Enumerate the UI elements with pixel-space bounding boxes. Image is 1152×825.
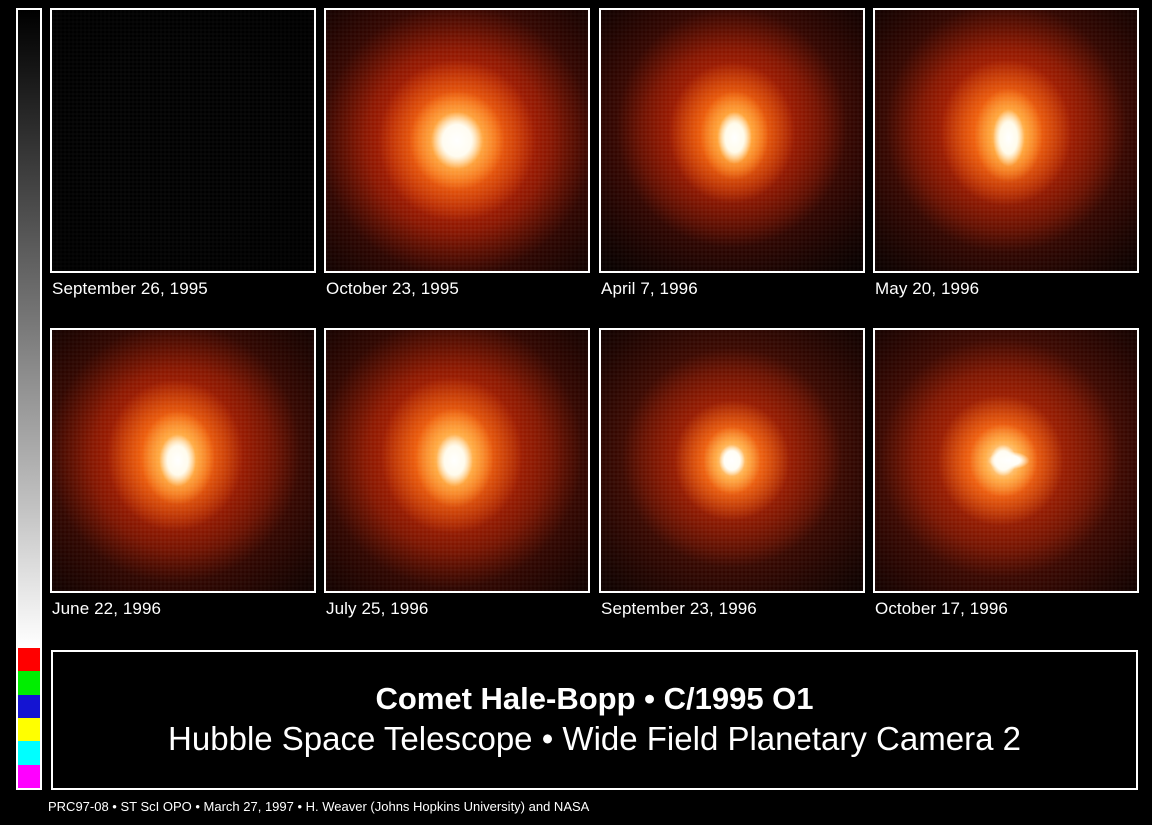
comet-image-may-20-1996 xyxy=(875,10,1137,271)
ccd-noise-texture xyxy=(875,330,1137,591)
credit-line: PRC97-08 • ST ScI OPO • March 27, 1997 •… xyxy=(48,799,589,814)
comet-image-panel xyxy=(873,328,1139,593)
panel-caption: October 17, 1996 xyxy=(875,599,1008,619)
panel-caption: September 26, 1995 xyxy=(52,279,208,299)
comet-image-panel xyxy=(324,328,590,593)
panel-caption: April 7, 1996 xyxy=(601,279,698,299)
comet-image-panel xyxy=(599,328,865,593)
comet-image-september-23-1996 xyxy=(601,330,863,591)
ccd-noise-texture xyxy=(326,330,588,591)
panel-caption: October 23, 1995 xyxy=(326,279,459,299)
color-swatch-green xyxy=(18,671,40,694)
color-swatch-magenta xyxy=(18,765,40,788)
hubble-comet-montage-poster: September 26, 1995 October 23, 1995 Apri… xyxy=(0,0,1152,825)
comet-image-panel xyxy=(50,8,316,273)
panel-caption: May 20, 1996 xyxy=(875,279,979,299)
panel-vignette xyxy=(875,330,1137,591)
panel-caption: July 25, 1996 xyxy=(326,599,428,619)
color-swatch-blue xyxy=(18,695,40,718)
color-swatch-red xyxy=(18,648,40,671)
comet-image-october-23-1995 xyxy=(326,10,588,271)
ccd-noise-texture xyxy=(601,330,863,591)
title-box: Comet Hale-Bopp • C/1995 O1 Hubble Space… xyxy=(51,650,1138,790)
ccd-noise-texture xyxy=(875,10,1137,271)
color-swatch-yellow xyxy=(18,718,40,741)
poster-subtitle: Hubble Space Telescope • Wide Field Plan… xyxy=(168,722,1021,757)
comet-image-july-25-1996 xyxy=(326,330,588,591)
comet-image-panel xyxy=(599,8,865,273)
panel-vignette xyxy=(601,10,863,271)
ccd-noise-texture xyxy=(601,10,863,271)
comet-image-panel xyxy=(873,8,1139,273)
panel-vignette xyxy=(326,10,588,271)
comet-image-panel xyxy=(324,8,590,273)
panel-vignette xyxy=(326,330,588,591)
intensity-color-bar xyxy=(16,8,42,790)
panel-vignette xyxy=(875,10,1137,271)
poster-title: Comet Hale-Bopp • C/1995 O1 xyxy=(375,683,813,716)
comet-image-october-17-1996 xyxy=(875,330,1137,591)
panel-caption: September 23, 1996 xyxy=(601,599,757,619)
comet-image-panel xyxy=(50,328,316,593)
color-swatch-cyan xyxy=(18,741,40,764)
comet-image-september-26-1995 xyxy=(52,10,314,271)
panel-caption: June 22, 1996 xyxy=(52,599,161,619)
ccd-noise-texture xyxy=(52,330,314,591)
comet-image-june-22-1996 xyxy=(52,330,314,591)
panel-vignette xyxy=(52,330,314,591)
panel-vignette xyxy=(601,330,863,591)
grayscale-gradient-ramp xyxy=(18,10,40,648)
panel-vignette xyxy=(52,10,314,271)
ccd-noise-texture xyxy=(326,10,588,271)
comet-image-april-7-1996 xyxy=(601,10,863,271)
ccd-noise-texture xyxy=(52,10,314,271)
